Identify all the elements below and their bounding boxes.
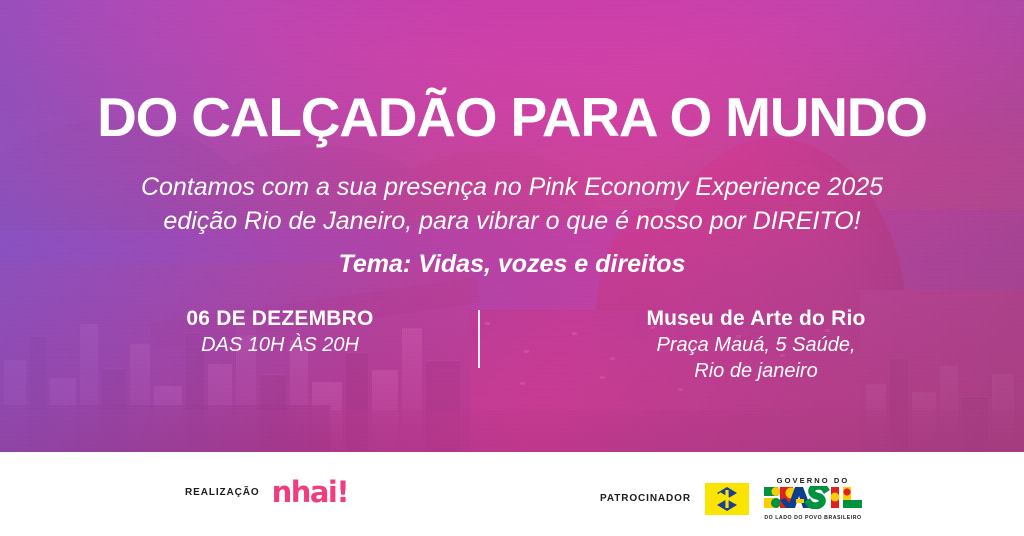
- event-date: 06 DE DEZEMBRO: [100, 305, 460, 332]
- patrocinador-group: PATROCINADOR GOVERNO DO: [600, 476, 863, 521]
- banco-do-brasil-logo: [705, 483, 749, 515]
- venue-name: Museu de Arte do Rio: [556, 305, 956, 332]
- patrocinador-label: PATROCINADOR: [600, 493, 691, 504]
- venue-address-line-1: Praça Mauá, 5 Saúde,: [556, 332, 956, 358]
- subtitle: Contamos com a sua presença no Pink Econ…: [0, 170, 1024, 238]
- brasil-wordmark: [763, 486, 863, 509]
- governo-do-brasil-logo: GOVERNO DO: [763, 476, 863, 521]
- hero-section: DO CALÇADÃO PARA O MUNDO Contamos com a …: [0, 0, 1024, 452]
- event-details-row: 06 DE DEZEMBRO DAS 10H ÀS 20H Museu de A…: [0, 305, 1024, 395]
- venue-address-line-2: Rio de janeiro: [556, 358, 956, 384]
- event-theme: Tema: Vidas, vozes e direitos: [0, 248, 1024, 280]
- subtitle-line-2: edição Rio de Janeiro, para vibrar o que…: [0, 204, 1024, 238]
- governo-tagline: DO LADO DO POVO BRASILEIRO: [763, 515, 863, 521]
- footer-logos-bar: REALIZAÇÃO nhai! PATROCINADOR GOVERNO DO: [0, 452, 1024, 536]
- page-title: DO CALÇADÃO PARA O MUNDO: [0, 88, 1024, 146]
- event-hours: DAS 10H ÀS 20H: [100, 332, 460, 358]
- vertical-divider: [478, 310, 480, 368]
- subtitle-line-1: Contamos com a sua presença no Pink Econ…: [0, 170, 1024, 204]
- realizacao-label: REALIZAÇÃO: [185, 487, 260, 498]
- venue-block: Museu de Arte do Rio Praça Mauá, 5 Saúde…: [556, 305, 956, 384]
- nhai-logo: nhai!: [272, 478, 349, 507]
- realizacao-group: REALIZAÇÃO nhai!: [185, 478, 348, 507]
- governo-label: GOVERNO DO: [763, 476, 863, 485]
- date-block: 06 DE DEZEMBRO DAS 10H ÀS 20H: [100, 305, 460, 358]
- hero-content: DO CALÇADÃO PARA O MUNDO Contamos com a …: [0, 0, 1024, 452]
- event-banner: DO CALÇADÃO PARA O MUNDO Contamos com a …: [0, 0, 1024, 536]
